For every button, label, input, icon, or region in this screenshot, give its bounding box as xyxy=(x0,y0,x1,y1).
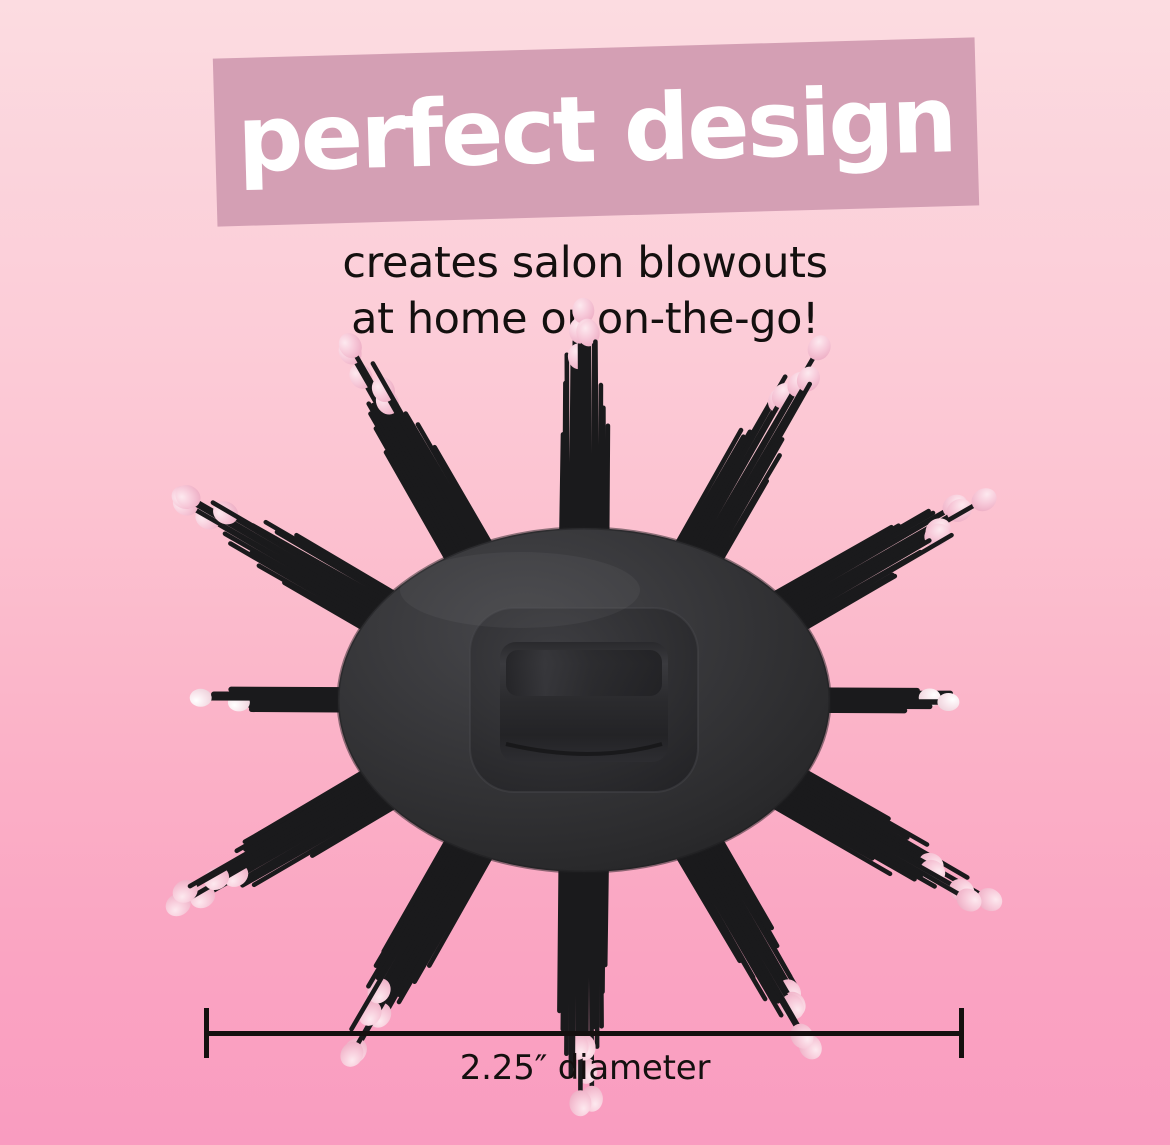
bristle xyxy=(750,505,956,622)
bristle-tip xyxy=(345,360,377,394)
bristle-tip xyxy=(363,974,395,1008)
bristle xyxy=(674,824,778,1001)
bristle xyxy=(406,414,500,573)
bristle-tip xyxy=(783,368,815,402)
bristle xyxy=(691,814,792,989)
bristle-tuft xyxy=(743,749,1007,916)
bristle xyxy=(671,377,785,575)
subtitle-line-2: at home or on-the-go! xyxy=(0,292,1170,348)
bristle-tip xyxy=(219,859,253,891)
bristle xyxy=(208,518,410,637)
bristle xyxy=(756,530,938,634)
bristle-tuft xyxy=(167,481,425,652)
bristle xyxy=(203,775,417,897)
bristle-tip xyxy=(200,862,234,894)
bristle-tip xyxy=(371,385,403,419)
brush-body-sheen xyxy=(400,552,640,628)
bristle xyxy=(297,535,426,611)
bristle xyxy=(663,831,740,961)
bristle xyxy=(399,826,497,995)
bristle-tip xyxy=(569,1090,591,1116)
bristle xyxy=(190,760,409,886)
bristle-tip xyxy=(914,848,948,880)
bristle xyxy=(680,396,784,580)
bristle-tip xyxy=(921,514,955,546)
subtitle: creates salon blowouts at home or on-the… xyxy=(0,236,1170,348)
brush-body xyxy=(338,528,830,872)
bristle xyxy=(700,809,778,946)
bristle xyxy=(259,566,404,649)
dimension-rule xyxy=(204,1031,964,1036)
bristle xyxy=(380,823,492,1016)
bristle xyxy=(781,710,905,711)
bristle xyxy=(415,829,503,982)
bristle-tip xyxy=(186,881,220,913)
bristle xyxy=(677,823,802,1037)
bristle-tuft xyxy=(781,689,960,712)
bristle xyxy=(243,783,422,885)
bristle xyxy=(668,432,750,573)
bristle-tip xyxy=(168,875,202,907)
bristle xyxy=(781,698,930,699)
hub-inner-shadow xyxy=(506,744,662,754)
bristle-tip xyxy=(209,497,243,529)
bristle xyxy=(758,763,931,864)
bristle-tip xyxy=(171,481,205,513)
bristle-tip xyxy=(945,874,979,906)
bristle xyxy=(370,818,483,1014)
bristle-tip xyxy=(973,884,1007,916)
bristle xyxy=(373,405,477,586)
bristle xyxy=(284,583,402,651)
bristle xyxy=(254,786,423,885)
bristle-tip xyxy=(191,502,225,534)
bristle xyxy=(753,510,960,628)
bristle xyxy=(252,553,407,643)
bristle xyxy=(700,455,780,590)
bristle xyxy=(595,342,597,563)
bristle xyxy=(369,404,475,588)
bristle xyxy=(600,838,601,1027)
bristle xyxy=(665,829,765,999)
bristle xyxy=(277,532,422,617)
bristle xyxy=(758,535,937,637)
bristle xyxy=(245,752,404,842)
headline-banner: perfect design xyxy=(213,37,979,226)
bristle xyxy=(665,437,743,571)
bristle xyxy=(178,769,413,905)
bristle xyxy=(253,526,420,620)
bristle xyxy=(682,819,792,1007)
bristle xyxy=(674,402,773,576)
bristle-tip xyxy=(367,373,399,407)
bristle xyxy=(764,752,927,845)
bristle xyxy=(561,434,563,562)
bristle xyxy=(600,385,601,562)
bristle xyxy=(429,831,505,966)
bristle-tip xyxy=(767,379,799,413)
bristle xyxy=(252,709,388,710)
bristle-tuft xyxy=(334,329,505,592)
bristle xyxy=(574,342,575,563)
bristle xyxy=(371,414,472,589)
bristle xyxy=(266,522,424,614)
bristle xyxy=(226,513,417,626)
bristle xyxy=(663,430,742,569)
bristle xyxy=(583,311,584,563)
hub-inner-band xyxy=(506,650,662,696)
page-title: perfect design xyxy=(214,74,978,187)
bristle xyxy=(746,783,914,879)
bristle xyxy=(685,385,799,583)
bristle xyxy=(764,575,892,648)
bristle xyxy=(387,402,488,579)
bristle xyxy=(231,689,387,690)
bristle xyxy=(781,693,951,694)
hub-outer-highlight xyxy=(470,608,698,792)
bristle xyxy=(761,552,920,642)
bristle xyxy=(217,766,412,879)
subtitle-line-1: creates salon blowouts xyxy=(0,236,1170,292)
bristle-tip xyxy=(967,484,1001,516)
bristle xyxy=(184,498,414,632)
bristle xyxy=(418,425,503,572)
bristle xyxy=(685,818,794,1005)
bristle-tip xyxy=(228,693,250,711)
promo-graphic: perfect design creates salon blowouts at… xyxy=(0,0,1170,1145)
bristle xyxy=(668,827,753,977)
bristle xyxy=(759,541,929,640)
bristle xyxy=(352,814,478,1029)
bristle xyxy=(761,757,967,877)
brush-body-rim xyxy=(338,528,830,872)
bristle xyxy=(751,506,955,625)
bristle-tip xyxy=(190,689,212,707)
bristle xyxy=(759,760,920,855)
bristle-tip xyxy=(792,362,824,396)
bristle xyxy=(259,749,402,834)
bristle xyxy=(435,447,506,569)
bristle xyxy=(376,809,469,965)
bristle xyxy=(745,786,873,858)
bristle xyxy=(563,838,565,1030)
bristle xyxy=(594,838,595,1027)
bristle xyxy=(564,383,565,562)
bristle xyxy=(185,504,412,634)
bristle xyxy=(386,452,466,592)
bristle xyxy=(743,789,890,874)
bristle xyxy=(589,333,591,562)
bristle xyxy=(763,755,908,838)
bristle xyxy=(694,384,810,587)
bristle xyxy=(694,813,796,987)
bristle xyxy=(383,390,491,578)
bristle xyxy=(677,400,780,577)
bristle xyxy=(246,757,408,849)
bristle xyxy=(559,838,561,1011)
bristle xyxy=(748,780,935,886)
hub-inner xyxy=(500,642,668,762)
bristle-tip xyxy=(169,488,203,520)
bristle xyxy=(384,808,466,952)
bristle-tip xyxy=(937,693,959,711)
bristle-tip xyxy=(920,519,954,551)
bristle-tip xyxy=(916,855,950,887)
bristle xyxy=(237,755,406,851)
bristle xyxy=(225,534,409,640)
bristle xyxy=(350,346,485,581)
bristle xyxy=(688,379,808,584)
hub-outer xyxy=(470,608,698,792)
bristle-tip xyxy=(167,481,201,513)
bristle xyxy=(756,766,990,900)
bristle xyxy=(751,775,969,901)
bristle-tip xyxy=(763,383,795,417)
bristle-tip xyxy=(581,1086,603,1112)
bristle xyxy=(399,827,500,1002)
bristle xyxy=(754,769,932,872)
bristle xyxy=(754,500,984,632)
bristle xyxy=(230,544,405,646)
bristle xyxy=(373,364,494,576)
bristle xyxy=(766,749,889,819)
bristle xyxy=(312,789,425,856)
bristle xyxy=(607,426,608,563)
bristle xyxy=(350,352,483,583)
bristle-tip xyxy=(952,884,986,916)
bristle xyxy=(702,808,771,928)
bristle xyxy=(236,772,416,876)
bristle xyxy=(605,838,607,965)
bristle xyxy=(376,429,469,591)
bristle xyxy=(702,481,766,592)
bristle xyxy=(745,526,899,614)
bristle xyxy=(697,439,783,589)
bristle-tufts xyxy=(161,298,1006,1116)
bristle xyxy=(188,497,415,629)
bristle-tuft xyxy=(161,749,425,921)
bristle-tuft xyxy=(743,484,1001,651)
bristle xyxy=(671,826,781,1016)
bristle xyxy=(381,824,494,1021)
bristle xyxy=(682,348,819,581)
bristle xyxy=(748,513,933,620)
bristle xyxy=(577,356,579,562)
bristle xyxy=(763,535,952,645)
bristle-tip xyxy=(773,975,805,1009)
bristle xyxy=(378,813,474,978)
bristle-tip xyxy=(938,490,972,522)
bristle xyxy=(766,576,895,651)
bristle xyxy=(361,376,480,584)
bristle-tuft xyxy=(663,331,836,592)
bristle xyxy=(743,527,892,611)
bristle xyxy=(688,816,789,992)
dimension-label: 2.25″ diameter xyxy=(0,1048,1170,1088)
bristle xyxy=(781,690,917,691)
bristle-tuft xyxy=(190,689,388,712)
bristle-tip xyxy=(919,689,941,707)
bristle xyxy=(697,811,791,977)
bristle xyxy=(567,355,568,563)
bristle xyxy=(368,811,471,986)
bristle-tip xyxy=(161,889,195,921)
bristle xyxy=(750,777,922,875)
bristle xyxy=(379,816,480,991)
bristle xyxy=(571,365,573,563)
bristle xyxy=(603,838,604,992)
bristle xyxy=(580,331,581,563)
bristle xyxy=(185,763,410,891)
bristle-tip xyxy=(943,494,977,526)
bristle xyxy=(746,511,928,617)
bristle xyxy=(753,772,962,891)
bristle xyxy=(246,777,419,877)
bristle xyxy=(408,417,497,574)
bristle xyxy=(240,780,420,883)
bristle xyxy=(691,398,800,586)
bristle xyxy=(213,503,419,623)
